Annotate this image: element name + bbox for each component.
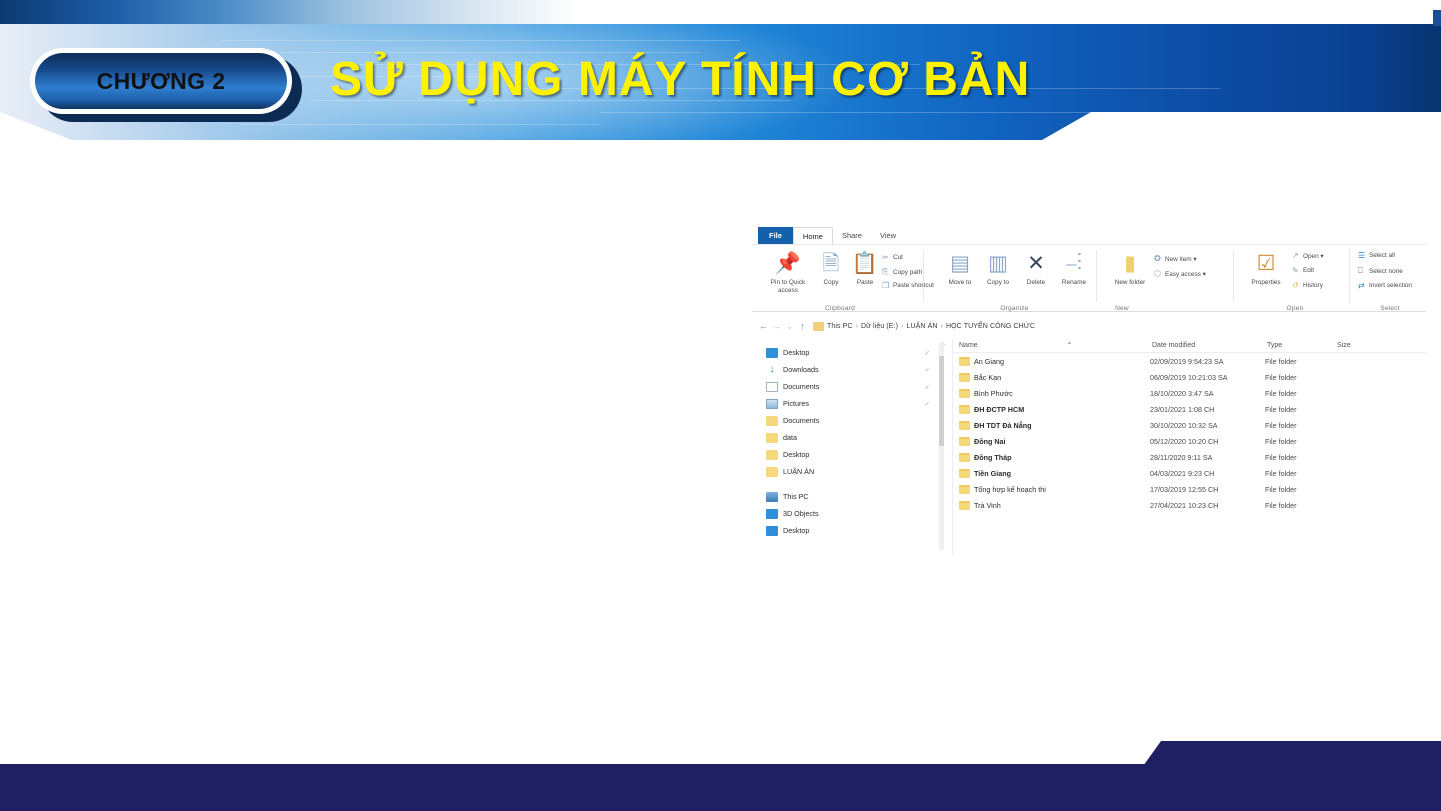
- nav-item-label: Desktop: [783, 450, 809, 459]
- file-explorer-screenshot: FileHomeShareView 📌 Pin to Quick access …: [752, 224, 1426, 555]
- column-header-size[interactable]: Size: [1331, 342, 1391, 349]
- folder-icon: [959, 389, 970, 398]
- copy-button[interactable]: 🗎 Copy: [814, 249, 848, 287]
- ribbon-tab-label: View: [880, 231, 896, 240]
- nav-item-label: Documents: [783, 382, 819, 391]
- ribbon-tab-label: Home: [803, 232, 823, 241]
- explorer-body: Desktop✓↓Downloads✓Documents✓Pictures✓Do…: [752, 338, 1426, 555]
- open-group-label: Open: [1240, 305, 1350, 312]
- file-date-modified: 28/11/2020 9:11 SA: [1150, 453, 1265, 462]
- forward-arrow-icon[interactable]: →: [770, 321, 783, 331]
- file-name: Trà Vinh: [974, 501, 1150, 510]
- file-name: Đồng Nai: [974, 437, 1150, 446]
- desktop-icon: [766, 526, 778, 536]
- column-header-name[interactable]: Name: [953, 342, 1146, 349]
- file-list-row[interactable]: Bắc Kạn06/09/2019 10:21:03 SAFile folder: [953, 369, 1426, 385]
- address-bar[interactable]: ← → ⌄ ↑ This PC›Dữ liệu (E:)›LUẬN ÁN›HỌC…: [752, 316, 1426, 336]
- folder-icon: [959, 357, 970, 366]
- file-name: ĐH TDT Đà Nẵng: [974, 421, 1150, 430]
- breadcrumb[interactable]: This PC›Dữ liệu (E:)›LUẬN ÁN›HỌC TUYỂN C…: [827, 323, 1035, 330]
- nav-item-this-pc[interactable]: This PC: [752, 488, 952, 505]
- download-icon: ↓: [766, 365, 778, 375]
- nav-item-label: Documents: [783, 416, 819, 425]
- select-all-label: Select all: [1369, 252, 1395, 259]
- select-none-button[interactable]: ⎕ Select none: [1358, 266, 1403, 276]
- file-type: File folder: [1265, 373, 1335, 382]
- pin-to-quick-access-label: Pin to Quick access: [762, 279, 814, 294]
- nav-item-downloads[interactable]: ↓Downloads✓: [752, 361, 952, 378]
- file-date-modified: 05/12/2020 10:20 CH: [1150, 437, 1265, 446]
- ribbon-tab-label: File: [769, 231, 782, 240]
- nav-item-label: Pictures: [783, 399, 809, 408]
- pin-to-quick-access-button[interactable]: 📌 Pin to Quick access: [762, 249, 814, 294]
- invert-selection-label: Invert selection: [1369, 282, 1412, 289]
- nav-item-label: 3D Objects: [783, 509, 819, 518]
- ribbon-group-organize: ▤ Move to ▥ Copy to ✕ Delete ⎯⋮ Rename O…: [932, 245, 1097, 313]
- paste-button[interactable]: 📋 Paste: [848, 249, 882, 287]
- easy-access-label: Easy access ▾: [1165, 270, 1206, 278]
- paste-label: Paste: [848, 279, 882, 287]
- folder-icon: [959, 501, 970, 510]
- ribbon-group-select: ☰ Select all ⎕ Select none ⇄ Invert sele…: [1356, 245, 1424, 313]
- open-button[interactable]: ↗ Open ▾: [1292, 251, 1324, 260]
- paste-shortcut-label: Paste shortcut: [893, 282, 934, 289]
- clipboard-group-label: Clipboard: [756, 305, 924, 312]
- file-list-row[interactable]: ĐH ĐCTP HCM23/01/2021 1:08 CHFile folder: [953, 401, 1426, 417]
- select-group-label: Select: [1356, 305, 1424, 312]
- slide-header-banner: CHƯƠNG 2 SỬ DỤNG MÁY TÍNH CƠ BẢN: [0, 0, 1441, 152]
- nav-item-label: This PC: [783, 492, 809, 501]
- copy-path-button[interactable]: ⎘ Copy path: [882, 267, 922, 277]
- edit-icon: ✎: [1292, 266, 1301, 275]
- folder-icon: [813, 322, 824, 331]
- file-type: File folder: [1265, 437, 1335, 446]
- select-none-label: Select none: [1369, 268, 1403, 275]
- copy-path-label: Copy path: [893, 269, 922, 276]
- banner-right-edge: [1433, 10, 1441, 26]
- recent-locations-icon[interactable]: ⌄: [783, 321, 796, 332]
- file-type: File folder: [1265, 357, 1335, 366]
- select-none-icon: ⎕: [1358, 266, 1367, 276]
- file-type: File folder: [1265, 485, 1335, 494]
- breadcrumb-item[interactable]: This PC: [827, 323, 853, 330]
- select-all-button[interactable]: ☰ Select all: [1358, 251, 1395, 260]
- banner-notch: [1021, 112, 1441, 152]
- file-name: Bình Phước: [974, 389, 1150, 398]
- nav-item-label: Desktop: [783, 348, 809, 357]
- open-icon: ↗: [1292, 251, 1301, 260]
- group-divider: [1233, 250, 1234, 302]
- desktop-icon: [766, 348, 778, 358]
- file-type: File folder: [1265, 389, 1335, 398]
- folder-icon: [959, 373, 970, 382]
- edit-label: Edit: [1303, 267, 1314, 274]
- nav-item-pictures[interactable]: Pictures✓: [752, 395, 952, 412]
- breadcrumb-item[interactable]: HỌC TUYỂN CÔNG CHỨC: [946, 323, 1035, 330]
- file-date-modified: 18/10/2020 3:47 SA: [1150, 389, 1265, 398]
- this-pc-icon: [766, 492, 778, 502]
- group-divider: [1096, 250, 1097, 302]
- history-icon: ↺: [1292, 281, 1301, 290]
- slide-footer: [0, 741, 1441, 811]
- nav-item-3d-objects[interactable]: 3D Objects: [752, 505, 952, 522]
- column-header-date-modified[interactable]: Date modified: [1146, 342, 1261, 349]
- new-folder-button[interactable]: ▮ New folder: [1108, 249, 1152, 287]
- copy-label: Copy: [814, 279, 848, 287]
- file-date-modified: 06/09/2019 10:21:03 SA: [1150, 373, 1265, 382]
- properties-icon: ☑: [1242, 249, 1290, 279]
- file-list-row[interactable]: Tiền Giang04/03/2021 9:23 CHFile folder: [953, 465, 1426, 481]
- cut-icon: ✂: [882, 253, 891, 262]
- ribbon: 📌 Pin to Quick access 🗎 Copy 📋 Paste ✂ C…: [752, 244, 1426, 312]
- ribbon-tab-file[interactable]: File: [758, 227, 793, 244]
- file-list-row[interactable]: ĐH TDT Đà Nẵng30/10/2020 10:32 SAFile fo…: [953, 417, 1426, 433]
- rename-button[interactable]: ⎯⋮ Rename: [1052, 249, 1096, 287]
- breadcrumb-separator: ›: [941, 323, 943, 330]
- file-date-modified: 02/09/2019 9:54:23 SA: [1150, 357, 1265, 366]
- file-list-header: Name Date modified Type Size ▴: [953, 338, 1426, 353]
- up-arrow-icon[interactable]: ↑: [796, 321, 809, 331]
- select-all-icon: ☰: [1358, 251, 1367, 260]
- file-date-modified: 27/04/2021 10:23 CH: [1150, 501, 1265, 510]
- pin-icon[interactable]: ✓: [925, 349, 930, 357]
- folder-icon: [959, 437, 970, 446]
- column-header-type[interactable]: Type: [1261, 342, 1331, 349]
- copy-icon: 🗎: [814, 249, 848, 279]
- ribbon-tab-view[interactable]: View: [871, 227, 905, 244]
- page-title: SỬ DỤNG MÁY TÍNH CƠ BẢN: [330, 52, 1030, 107]
- slide: CHƯƠNG 2 SỬ DỤNG MÁY TÍNH CƠ BẢN FileHom…: [0, 0, 1441, 811]
- nav-item-label: Downloads: [783, 365, 819, 374]
- file-date-modified: 23/01/2021 1:08 CH: [1150, 405, 1265, 414]
- folder-icon: [959, 485, 970, 494]
- file-name: Tiền Giang: [974, 469, 1150, 478]
- file-list-row[interactable]: Bình Phước18/10/2020 3:47 SAFile folder: [953, 385, 1426, 401]
- file-list-row[interactable]: Đồng Nai05/12/2020 10:20 CHFile folder: [953, 433, 1426, 449]
- edit-button[interactable]: ✎ Edit: [1292, 266, 1314, 275]
- new-group-label: New: [1062, 305, 1182, 312]
- chapter-badge: CHƯƠNG 2: [30, 48, 292, 114]
- file-name: An Giang: [974, 357, 1150, 366]
- nav-item-label: data: [783, 433, 797, 442]
- nav-item-documents[interactable]: Documents: [752, 412, 952, 429]
- folder-icon: [766, 416, 778, 426]
- file-type: File folder: [1265, 405, 1335, 414]
- rename-icon: ⎯⋮: [1052, 249, 1096, 279]
- folder-icon: [959, 405, 970, 414]
- new-item-button[interactable]: ✪ New item ▾: [1154, 254, 1197, 263]
- nav-item-desktop[interactable]: Desktop: [752, 446, 952, 463]
- nav-item-label: LUẬN ÁN: [783, 467, 814, 476]
- easy-access-icon: ⬡: [1154, 269, 1163, 278]
- new-item-icon: ✪: [1154, 254, 1163, 263]
- cut-button[interactable]: ✂ Cut: [882, 253, 903, 262]
- file-date-modified: 17/03/2019 12:55 CH: [1150, 485, 1265, 494]
- ribbon-group-clipboard: 📌 Pin to Quick access 🗎 Copy 📋 Paste ✂ C…: [756, 245, 924, 313]
- pictures-icon: [766, 399, 778, 409]
- file-list-row[interactable]: Đồng Tháp28/11/2020 9:11 SAFile folder: [953, 449, 1426, 465]
- ribbon-tabstrip: FileHomeShareView: [758, 227, 905, 244]
- rename-label: Rename: [1052, 279, 1096, 287]
- breadcrumb-item[interactable]: Dữ liệu (E:): [861, 323, 898, 330]
- folder-icon: [766, 450, 778, 460]
- file-list-row[interactable]: Tổng hợp kế hoạch thi17/03/2019 12:55 CH…: [953, 481, 1426, 497]
- file-date-modified: 30/10/2020 10:32 SA: [1150, 421, 1265, 430]
- group-divider: [1349, 250, 1350, 302]
- history-label: History: [1303, 282, 1323, 289]
- copy-path-icon: ⎘: [882, 267, 891, 277]
- properties-label: Properties: [1242, 279, 1290, 287]
- file-name: Đồng Tháp: [974, 453, 1150, 462]
- new-item-label: New item ▾: [1165, 255, 1197, 263]
- footer-raised-corner: [1111, 741, 1441, 811]
- paste-icon: 📋: [848, 249, 882, 279]
- file-type: File folder: [1265, 469, 1335, 478]
- folder-icon: [959, 421, 970, 430]
- ribbon-group-new: ▮ New folder ✪ New item ▾ ⬡ Easy access …: [1104, 245, 1234, 313]
- file-list-row[interactable]: Trà Vinh27/04/2021 10:23 CHFile folder: [953, 497, 1426, 513]
- file-type: File folder: [1265, 453, 1335, 462]
- breadcrumb-separator: ›: [856, 323, 858, 330]
- file-type: File folder: [1265, 421, 1335, 430]
- file-list-row[interactable]: An Giang02/09/2019 9:54:23 SAFile folder: [953, 353, 1426, 369]
- file-date-modified: 04/03/2021 9:23 CH: [1150, 469, 1265, 478]
- 3d-objects-icon: [766, 509, 778, 519]
- group-divider: [923, 250, 924, 302]
- folder-icon: [959, 469, 970, 478]
- ribbon-tab-label: Share: [842, 231, 862, 240]
- open-label: Open ▾: [1303, 252, 1324, 260]
- ribbon-group-open: ☑ Properties ↗ Open ▾ ✎ Edit ↺ History O…: [1240, 245, 1350, 313]
- folder-icon: [766, 467, 778, 477]
- cut-label: Cut: [893, 254, 903, 261]
- paste-shortcut-icon: ❐: [882, 281, 891, 290]
- file-name: Tổng hợp kế hoạch thi: [974, 485, 1150, 494]
- ribbon-tab-share[interactable]: Share: [833, 227, 871, 244]
- easy-access-button[interactable]: ⬡ Easy access ▾: [1154, 269, 1206, 278]
- breadcrumb-item[interactable]: LUẬN ÁN: [906, 323, 937, 330]
- paste-shortcut-button[interactable]: ❐ Paste shortcut: [882, 281, 934, 290]
- pin-icon[interactable]: ✓: [925, 400, 930, 408]
- navigation-pane: Desktop✓↓Downloads✓Documents✓Pictures✓Do…: [752, 338, 952, 555]
- pin-icon[interactable]: ✓: [925, 383, 930, 391]
- folder-icon: [766, 433, 778, 443]
- invert-selection-button[interactable]: ⇄ Invert selection: [1358, 281, 1412, 290]
- nav-item-desktop[interactable]: Desktop✓: [752, 344, 952, 361]
- nav-item-desktop[interactable]: Desktop: [752, 522, 952, 539]
- file-name: Bắc Kạn: [974, 373, 1150, 382]
- pin-icon: 📌: [762, 249, 814, 279]
- pin-icon[interactable]: ✓: [925, 366, 930, 374]
- ribbon-tab-home[interactable]: Home: [793, 227, 833, 244]
- nav-scrollbar[interactable]: [939, 342, 944, 550]
- file-list-pane: Name Date modified Type Size ▴ An Giang0…: [952, 338, 1426, 555]
- folder-icon: [959, 453, 970, 462]
- nav-item-luận-án[interactable]: LUẬN ÁN: [752, 463, 952, 480]
- new-folder-icon: ▮: [1108, 249, 1152, 279]
- documents-icon: [766, 382, 778, 392]
- nav-item-data[interactable]: data: [752, 429, 952, 446]
- file-type: File folder: [1265, 501, 1335, 510]
- breadcrumb-separator: ›: [901, 323, 903, 330]
- invert-selection-icon: ⇄: [1358, 281, 1367, 290]
- nav-item-documents[interactable]: Documents✓: [752, 378, 952, 395]
- back-arrow-icon[interactable]: ←: [757, 321, 770, 331]
- history-button[interactable]: ↺ History: [1292, 281, 1323, 290]
- new-folder-label: New folder: [1108, 279, 1152, 287]
- nav-item-label: Desktop: [783, 526, 809, 535]
- chapter-label: CHƯƠNG 2: [97, 68, 226, 95]
- file-name: ĐH ĐCTP HCM: [974, 405, 1150, 414]
- sort-indicator-icon: ▴: [1068, 339, 1071, 346]
- properties-button[interactable]: ☑ Properties: [1242, 249, 1290, 287]
